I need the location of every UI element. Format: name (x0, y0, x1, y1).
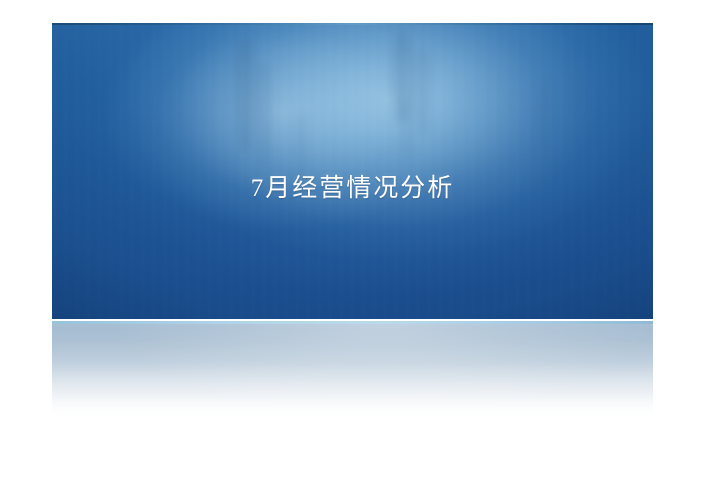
panel-vignette (52, 23, 653, 319)
slide-reflection (52, 321, 653, 425)
slide-root: 7月经营情况分析 (0, 0, 702, 496)
title-slide-panel: 7月经营情况分析 (52, 23, 653, 319)
slide-title: 7月经营情况分析 (52, 175, 653, 203)
reflection-fade-out (52, 321, 653, 425)
panel-top-edge (52, 23, 653, 25)
